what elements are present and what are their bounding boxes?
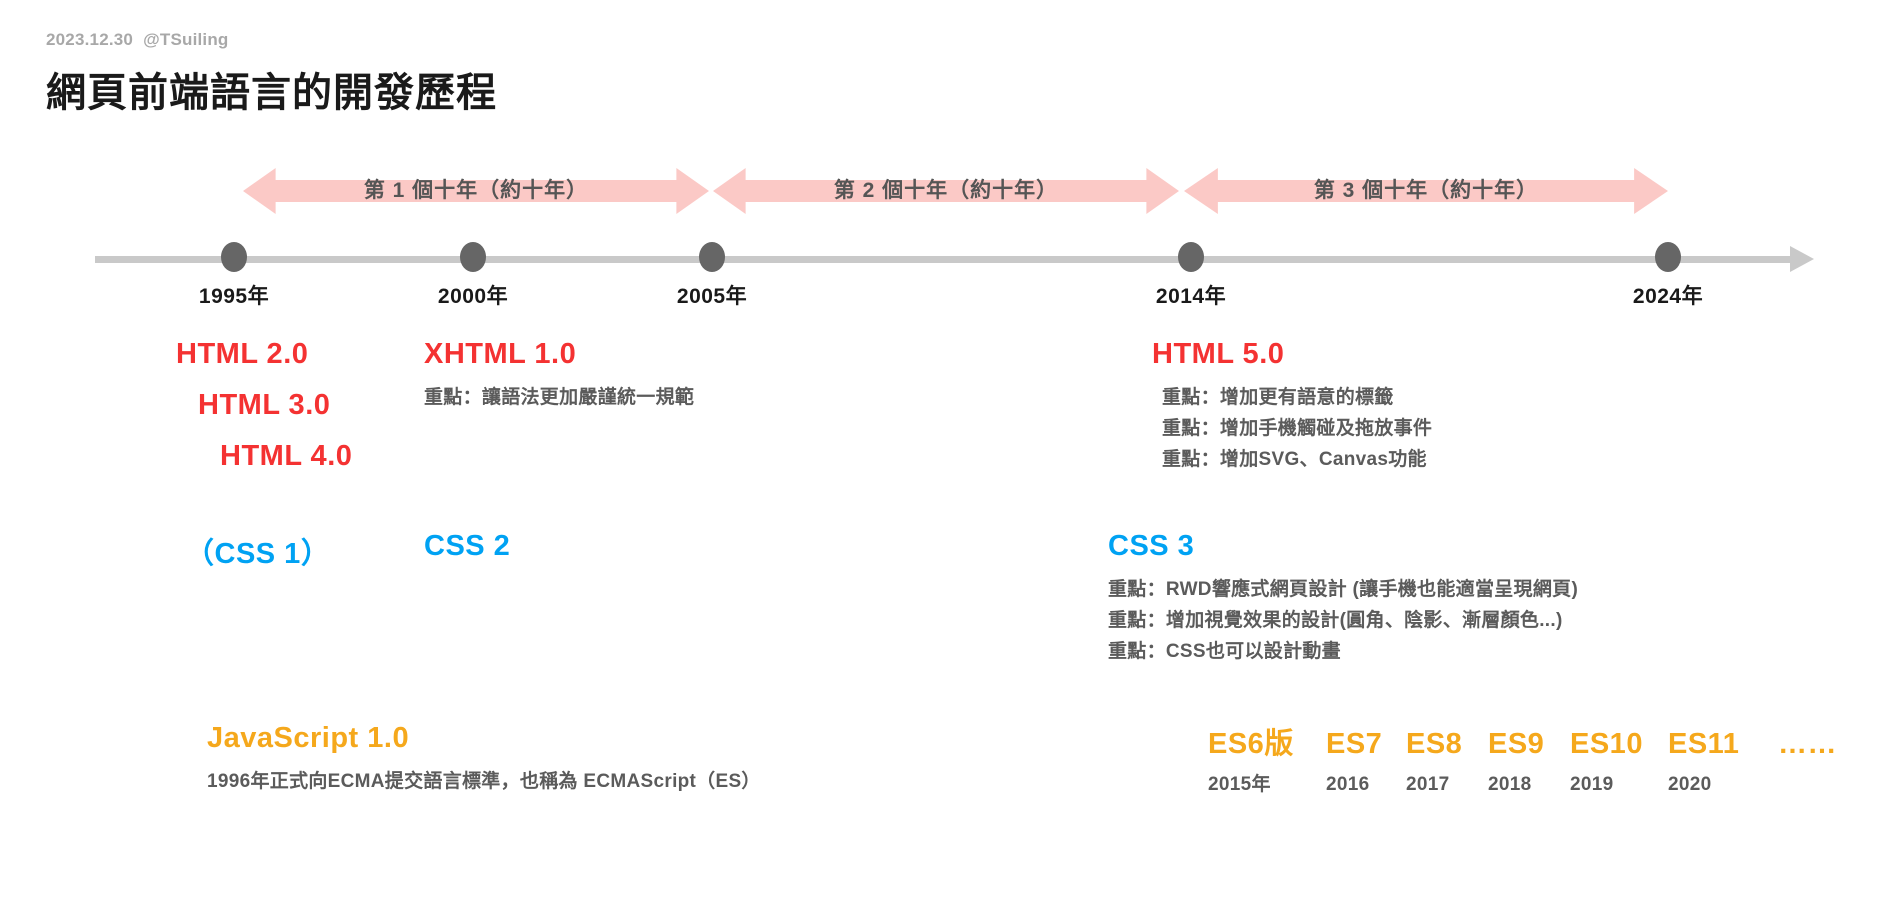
- page-header: 2023.12.30@TSuiling 網頁前端語言的開發歷程: [46, 30, 497, 118]
- html5-note-1: 重點：增加更有語意的標籤: [1152, 383, 1432, 414]
- decade-arrow-row: 第 1 個十年（約十年） 第 2 個十年（約十年） 第 3 個十年（約十年）: [0, 160, 1900, 222]
- ecmascript-releases-block: ES6版 ES7 ES8 ES9 ES10 ES11 …… 2015年 2016…: [1208, 720, 1837, 796]
- es-year-2019: 2019: [1570, 774, 1668, 796]
- timeline-axis: 1995年 2000年 2005年 2014年 2024年: [0, 236, 1900, 346]
- css3-note-1: 重點：RWD響應式網頁設計 (讓手機也能適當呈現網頁): [1108, 575, 1578, 606]
- axis-line: [95, 256, 1795, 263]
- byline: 2023.12.30@TSuiling: [46, 30, 497, 50]
- es-version-7: ES7: [1326, 728, 1406, 761]
- timeline-dot: [460, 242, 486, 272]
- css3-note-3: 重點：CSS也可以設計動畫: [1108, 637, 1578, 668]
- timeline-dot: [221, 242, 247, 272]
- timeline-dot: [1178, 242, 1204, 272]
- html5-block: HTML 5.0 重點：增加更有語意的標籤 重點：增加手機觸碰及拖放事件 重點：…: [1152, 338, 1432, 475]
- timeline-year-label: 2000年: [438, 280, 508, 310]
- es-version-6: ES6版: [1208, 720, 1326, 762]
- javascript-title: JavaScript 1.0: [207, 722, 761, 755]
- timeline-dot: [699, 242, 725, 272]
- css3-note-2: 重點：增加視覺效果的設計(圓角、陰影、漸層顏色...): [1108, 606, 1578, 637]
- html-version-4: HTML 4.0: [176, 440, 352, 473]
- decade-label: 第 3 個十年（約十年）: [1184, 160, 1668, 222]
- byline-handle: @TSuiling: [143, 30, 228, 49]
- css2-title: CSS 2: [424, 530, 510, 563]
- javascript-block: JavaScript 1.0 1996年正式向ECMA提交語言標準，也稱為 EC…: [207, 722, 761, 798]
- decade-arrow-3: 第 3 個十年（約十年）: [1184, 160, 1668, 222]
- byline-date: 2023.12.30: [46, 30, 133, 49]
- xhtml-block: XHTML 1.0 重點：讓語法更加嚴謹統一規範: [424, 338, 694, 414]
- html5-title: HTML 5.0: [1152, 338, 1432, 371]
- css2-block: CSS 2: [424, 530, 510, 563]
- css1-title: （CSS 1）: [185, 530, 330, 572]
- decade-arrow-2: 第 2 個十年（約十年）: [713, 160, 1179, 222]
- xhtml-note-1: 重點：讓語法更加嚴謹統一規範: [424, 383, 694, 414]
- es-year-2016: 2016: [1326, 774, 1406, 796]
- es-version-11: ES11: [1668, 728, 1778, 761]
- es-version-8: ES8: [1406, 728, 1488, 761]
- ecmascript-version-row: ES6版 ES7 ES8 ES9 ES10 ES11 ……: [1208, 720, 1837, 762]
- ecmascript-year-row: 2015年 2016 2017 2018 2019 2020: [1208, 769, 1837, 796]
- css1-block: （CSS 1）: [185, 530, 330, 572]
- timeline-year-label: 2005年: [677, 280, 747, 310]
- timeline-year-label: 1995年: [199, 280, 269, 310]
- css3-block: CSS 3 重點：RWD響應式網頁設計 (讓手機也能適當呈現網頁) 重點：增加視…: [1108, 530, 1578, 667]
- page-title: 網頁前端語言的開發歷程: [46, 60, 497, 118]
- decade-label: 第 2 個十年（約十年）: [713, 160, 1179, 222]
- es-year-2018: 2018: [1488, 774, 1570, 796]
- xhtml-title: XHTML 1.0: [424, 338, 694, 371]
- decade-label: 第 1 個十年（約十年）: [243, 160, 709, 222]
- timeline-dot: [1655, 242, 1681, 272]
- es-year-2020: 2020: [1668, 774, 1778, 796]
- es-version-more: ……: [1778, 728, 1837, 761]
- es-year-2017: 2017: [1406, 774, 1488, 796]
- decade-arrow-1: 第 1 個十年（約十年）: [243, 160, 709, 222]
- timeline-year-label: 2014年: [1156, 280, 1226, 310]
- html-version-3: HTML 3.0: [176, 389, 352, 422]
- es-version-9: ES9: [1488, 728, 1570, 761]
- html5-note-2: 重點：增加手機觸碰及拖放事件: [1152, 414, 1432, 445]
- timeline-year-label: 2024年: [1633, 280, 1703, 310]
- axis-arrowhead-icon: [1790, 246, 1814, 272]
- html-versions-block: HTML 2.0 HTML 3.0 HTML 4.0: [176, 338, 352, 473]
- html5-note-3: 重點：增加SVG、Canvas功能: [1152, 445, 1432, 476]
- javascript-note-1: 1996年正式向ECMA提交語言標準，也稱為 ECMAScript（ES）: [207, 767, 761, 798]
- es-year-2015: 2015年: [1208, 769, 1326, 796]
- es-version-10: ES10: [1570, 728, 1668, 761]
- html-version-2: HTML 2.0: [176, 338, 352, 371]
- css3-title: CSS 3: [1108, 530, 1578, 563]
